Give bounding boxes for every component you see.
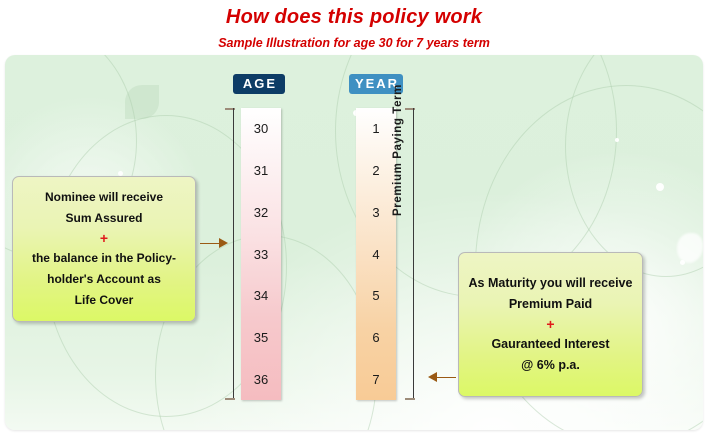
callout-line: Life Cover (75, 290, 134, 311)
year-cell: 6 (356, 317, 396, 359)
bracket-cap-bottom (225, 398, 235, 400)
premium-paying-term-bracket (403, 108, 415, 400)
age-cell: 34 (241, 275, 281, 317)
decorative-dot (615, 138, 619, 142)
decorative-dot (656, 183, 664, 191)
arrow-shaft (437, 377, 456, 378)
year-cell: 1 (356, 108, 396, 150)
arrow-right-icon (200, 238, 228, 248)
decorative-petal (125, 85, 159, 119)
callout-line: Gauranteed Interest (491, 334, 609, 355)
year-cell: 3 (356, 191, 396, 233)
bracket-spine (233, 108, 234, 400)
age-bracket (225, 108, 237, 400)
arrow-head (219, 238, 228, 248)
callout-line: Nominee will receive (45, 187, 163, 208)
bracket-spine (413, 108, 414, 400)
arrow-head (428, 372, 437, 382)
decorative-dot (680, 260, 685, 265)
callout-line: Premium Paid (509, 294, 592, 315)
maturity-benefit-callout: As Maturity you will receive Premium Pai… (458, 252, 643, 397)
year-cell: 7 (356, 358, 396, 400)
age-cell: 36 (241, 358, 281, 400)
age-cell: 31 (241, 150, 281, 192)
premium-paying-term-label: Premium Paying Term (392, 96, 404, 216)
page-title: How does this policy work (0, 0, 708, 29)
year-cell: 2 (356, 150, 396, 192)
arrow-left-icon (428, 372, 456, 382)
age-cell: 32 (241, 191, 281, 233)
title-block: How does this policy work Sample Illustr… (0, 0, 708, 50)
callout-line: the balance in the Policy- (32, 248, 176, 269)
bracket-cap-bottom (405, 398, 415, 400)
arrow-shaft (200, 243, 219, 244)
age-scale-column: 30 31 32 33 34 35 36 (241, 108, 281, 400)
callout-line: @ 6% p.a. (521, 355, 580, 376)
callout-line: As Maturity you will receive (469, 273, 633, 294)
death-benefit-callout: Nominee will receive Sum Assured + the b… (12, 176, 196, 322)
callout-line: Sum Assured (66, 208, 143, 229)
age-cell: 33 (241, 233, 281, 275)
year-scale-column: 1 2 3 4 5 6 7 (356, 108, 396, 400)
age-cell: 30 (241, 108, 281, 150)
year-cell: 5 (356, 275, 396, 317)
plus-icon: + (100, 229, 108, 248)
callout-line: holder's Account as (47, 269, 161, 290)
age-cell: 35 (241, 317, 281, 359)
page-subtitle: Sample Illustration for age 30 for 7 yea… (0, 29, 708, 50)
plus-icon: + (546, 315, 554, 334)
age-column-header: AGE (233, 74, 285, 94)
year-cell: 4 (356, 233, 396, 275)
